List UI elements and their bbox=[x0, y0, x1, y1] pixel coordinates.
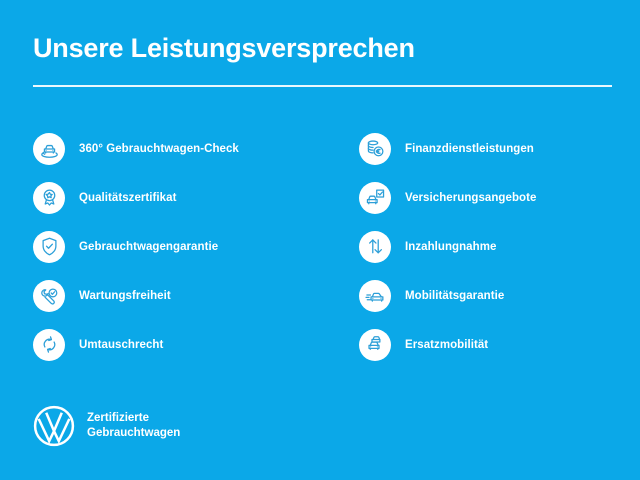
benefit-label: Ersatzmobilität bbox=[405, 339, 488, 351]
benefits-column-left: 360° Gebrauchtwagen-Check Qualitätszerti… bbox=[33, 124, 333, 369]
car-document-check-icon bbox=[359, 182, 391, 214]
quality-rosette-icon bbox=[33, 182, 65, 214]
car-motion-icon bbox=[359, 280, 391, 312]
benefit-item-maintenance[interactable]: Wartungsfreiheit bbox=[33, 271, 333, 320]
title-divider bbox=[33, 85, 612, 87]
shield-check-icon bbox=[33, 231, 65, 263]
arrows-up-down-icon bbox=[359, 231, 391, 263]
benefits-column-right: Finanzdienstleistungen Versicherungsange… bbox=[359, 124, 640, 369]
brand-text-line-1: Zertifizierte bbox=[87, 411, 180, 426]
wrench-check-icon bbox=[33, 280, 65, 312]
coins-euro-icon bbox=[359, 133, 391, 165]
benefit-label: Qualitätszertifikat bbox=[79, 192, 176, 204]
benefit-item-360-check[interactable]: 360° Gebrauchtwagen-Check bbox=[33, 124, 333, 173]
promo-banner: Unsere Leistungsversprechen 360° Gebrauc… bbox=[0, 0, 640, 480]
benefit-label: Umtauschrecht bbox=[79, 339, 163, 351]
benefit-item-financial-services[interactable]: Finanzdienstleistungen bbox=[359, 124, 640, 173]
benefit-item-return-right[interactable]: Umtauschrecht bbox=[33, 320, 333, 369]
benefit-item-replacement-mobility[interactable]: Ersatzmobilität bbox=[359, 320, 640, 369]
benefit-item-quality-certificate[interactable]: Qualitätszertifikat bbox=[33, 173, 333, 222]
benefit-item-mobility-guarantee[interactable]: Mobilitätsgarantie bbox=[359, 271, 640, 320]
page-title: Unsere Leistungsversprechen bbox=[33, 31, 415, 65]
benefit-item-trade-in[interactable]: Inzahlungnahme bbox=[359, 222, 640, 271]
benefit-label: Gebrauchtwagengarantie bbox=[79, 241, 218, 253]
benefit-item-insurance[interactable]: Versicherungsangebote bbox=[359, 173, 640, 222]
benefit-label: 360° Gebrauchtwagen-Check bbox=[79, 143, 239, 155]
benefit-label: Mobilitätsgarantie bbox=[405, 290, 504, 302]
exchange-arrows-icon bbox=[33, 329, 65, 361]
volkswagen-logo bbox=[33, 405, 75, 447]
benefit-label: Wartungsfreiheit bbox=[79, 290, 171, 302]
benefit-label: Finanzdienstleistungen bbox=[405, 143, 534, 155]
brand-lockup: Zertifizierte Gebrauchtwagen bbox=[33, 405, 180, 447]
two-cars-icon bbox=[359, 329, 391, 361]
benefit-label: Inzahlungnahme bbox=[405, 241, 496, 253]
car-360-check-icon bbox=[33, 133, 65, 165]
brand-text-line-2: Gebrauchtwagen bbox=[87, 426, 180, 441]
benefit-label: Versicherungsangebote bbox=[405, 192, 536, 204]
benefit-item-warranty[interactable]: Gebrauchtwagengarantie bbox=[33, 222, 333, 271]
brand-text: Zertifizierte Gebrauchtwagen bbox=[87, 411, 180, 441]
